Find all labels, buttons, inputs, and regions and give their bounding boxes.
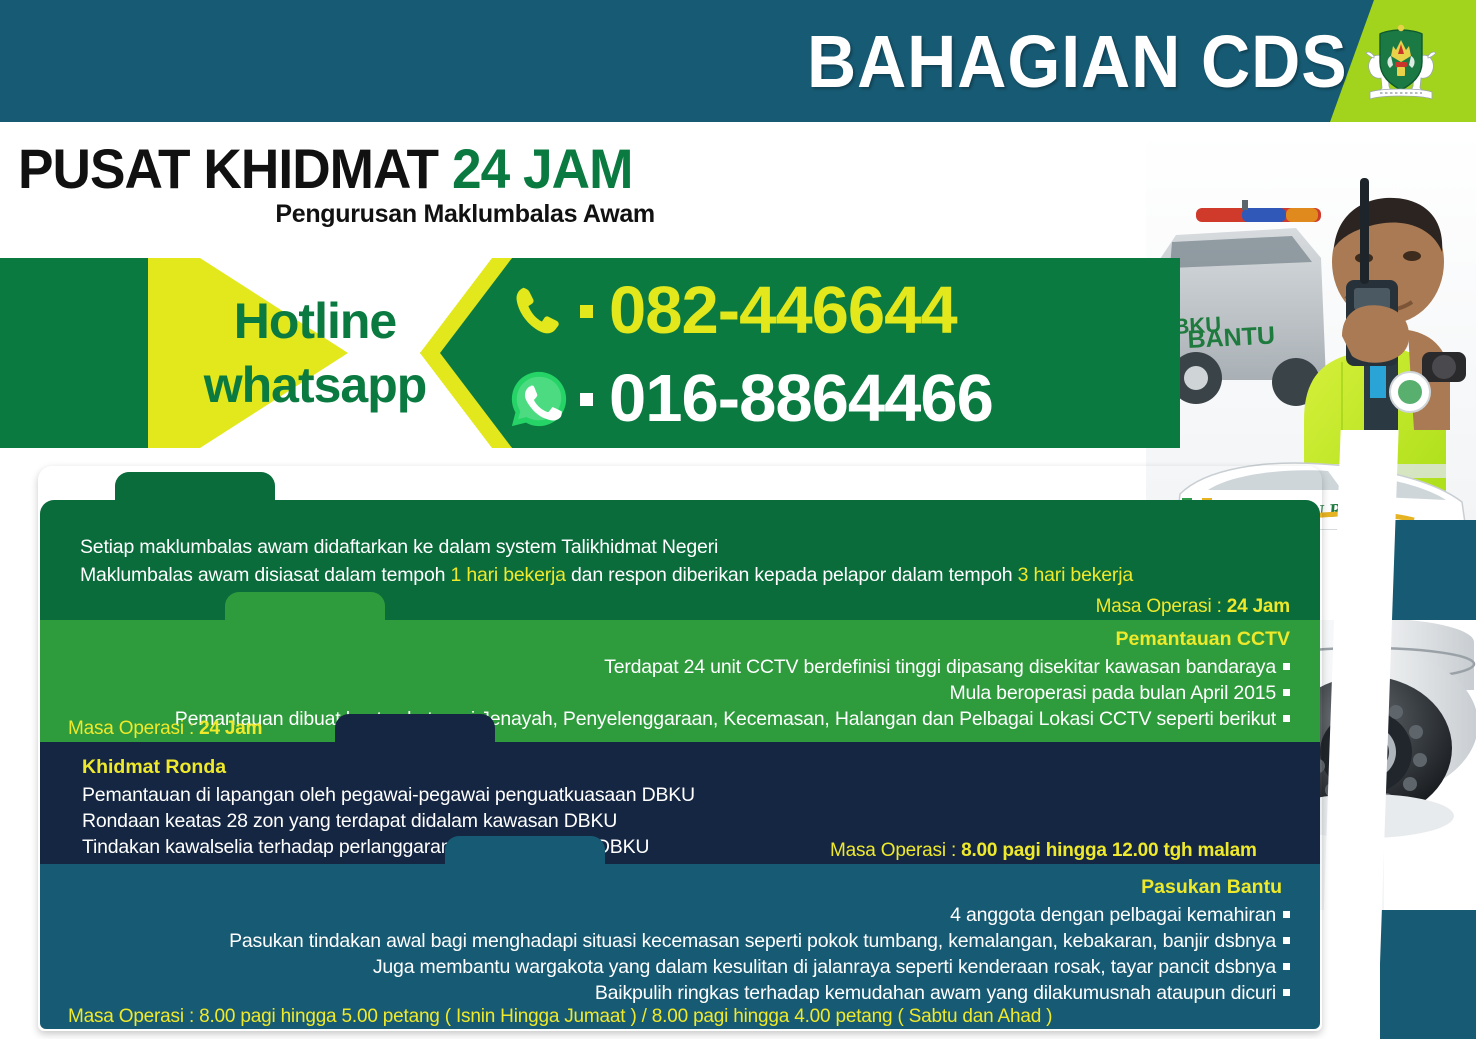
block-pasukan-bantu-tab (445, 836, 605, 866)
phone-separator-dot (580, 305, 593, 318)
cctv-masa-operasi: Masa Operasi : 24 Jam (68, 718, 262, 740)
cctv-bullet-2-text: Mula beroperasi pada bulan April 2015 (950, 682, 1277, 704)
talikhidmat-line-1: Setiap maklumbalas awam didaftarkan ke d… (80, 534, 718, 560)
poster-root: BAHAGIAN CDS (0, 0, 1476, 1039)
bantu-bullet-1-text: 4 anggota dengan pelbagai kemahiran (950, 904, 1276, 926)
block-khidmat-ronda-tab (335, 714, 495, 744)
hotline-whatsapp-number: 016-8864466 (609, 364, 993, 434)
sarawak-dbku-coat-of-arms-icon (1362, 22, 1440, 104)
bantu-bullet-4: Baikpulih ringkas terhadap kemudahan awa… (595, 980, 1290, 1006)
bantu-bullet-3-text: Juga membantu wargakota yang dalam kesul… (373, 956, 1276, 978)
cctv-title: Pemantauan CCTV (1116, 628, 1290, 651)
poster-title-green: 24 JAM (452, 137, 633, 200)
cctv-bullet-1-text: Terdapat 24 unit CCTV berdefinisi tinggi… (604, 656, 1276, 678)
cctv-masa-label: Masa Operasi : (68, 718, 199, 739)
page-title: BAHAGIAN CDS (807, 14, 1348, 110)
block-khidmat-ronda: Khidmat Ronda Pemantauan di lapangan ole… (40, 742, 1320, 864)
talikhidmat-line2-mid: dan respon diberikan kepada pelapor dala… (566, 564, 1018, 586)
hotline-label-line1: Hotline (234, 289, 396, 353)
ronda-title: Khidmat Ronda (82, 756, 226, 779)
cctv-bullet-1: Terdapat 24 unit CCTV berdefinisi tinggi… (604, 654, 1290, 680)
hotline-whatsapp-row[interactable]: 016-8864466 (500, 355, 1180, 443)
hotline-label-line2: whatsapp (204, 353, 427, 417)
bantu-bullet-2-text: Pasukan tindakan awal bagi menghadapi si… (229, 930, 1276, 952)
bullet-square-icon (1283, 715, 1290, 722)
talikhidmat-masa-operasi: Masa Operasi : 24 Jam (1096, 596, 1290, 618)
bantu-bullet-4-text: Baikpulih ringkas terhadap kemudahan awa… (595, 982, 1276, 1004)
phone-icon (500, 272, 578, 350)
talikhidmat-masa-value: 24 Jam (1227, 596, 1290, 617)
poster-title-main: PUSAT KHIDMAT 24 JAM (18, 140, 633, 198)
whatsapp-icon (500, 360, 578, 438)
hotline-phone-row[interactable]: 082-446644 (500, 267, 1180, 355)
talikhidmat-line2-highlight-2: 3 hari bekerja (1018, 564, 1133, 586)
bullet-square-icon (1283, 689, 1290, 696)
svg-text:BANTU: BANTU (1187, 321, 1276, 354)
bantu-bullet-1: 4 anggota dengan pelbagai kemahiran (950, 902, 1290, 928)
talikhidmat-line2-highlight-1: 1 hari bekerja (450, 564, 565, 586)
poster-title-black: PUSAT KHIDMAT (18, 137, 438, 200)
ronda-masa-value: 8.00 pagi hingga 12.00 tgh malam (961, 840, 1257, 861)
page-header: BAHAGIAN CDS (0, 0, 1476, 122)
content-panel: Setiap maklumbalas awam didaftarkan ke d… (40, 468, 1320, 1029)
bantu-bullet-3: Juga membantu wargakota yang dalam kesul… (373, 954, 1290, 980)
cctv-masa-value: 24 Jam (199, 718, 262, 739)
bullet-square-icon (1283, 963, 1290, 970)
ronda-masa-operasi: Masa Operasi : 8.00 pagi hingga 12.00 tg… (830, 840, 1257, 862)
block-pasukan-bantu: Pasukan Bantu 4 anggota dengan pelbagai … (40, 864, 1320, 1029)
talikhidmat-line-2: Maklumbalas awam disiasat dalam tempoh 1… (80, 562, 1133, 588)
hotline-phone-number: 082-446644 (609, 276, 957, 346)
poster-subtitle: Pengurusan Maklumbalas Awam (18, 200, 665, 229)
bullet-square-icon (1283, 937, 1290, 944)
hotline-band: Hotline whatsapp 082-446644 (0, 258, 1180, 448)
cctv-bullet-2: Mula beroperasi pada bulan April 2015 (950, 680, 1291, 706)
ronda-masa-label: Masa Operasi : (830, 840, 961, 861)
poster-title-block: PUSAT KHIDMAT 24 JAM Pengurusan Maklumba… (18, 140, 665, 229)
bullet-square-icon (1283, 663, 1290, 670)
block-pemantauan-cctv: Pemantauan CCTV Terdapat 24 unit CCTV be… (40, 620, 1320, 742)
hotline-numbers: 082-446644 016-8864466 (500, 264, 1180, 446)
bantu-masa-label: Masa Operasi : (68, 1006, 199, 1027)
bantu-masa-operasi: Masa Operasi : 8.00 pagi hingga 5.00 pet… (68, 1006, 1052, 1028)
whatsapp-separator-dot (580, 393, 593, 406)
bantu-title: Pasukan Bantu (1141, 876, 1282, 899)
ronda-line-2: Rondaan keatas 28 zon yang terdapat dida… (82, 808, 617, 834)
ronda-line-1: Pemantauan di lapangan oleh pegawai-pega… (82, 782, 695, 808)
bullet-square-icon (1283, 911, 1290, 918)
bantu-bullet-2: Pasukan tindakan awal bagi menghadapi si… (229, 928, 1290, 954)
bullet-square-icon (1283, 989, 1290, 996)
talikhidmat-masa-label: Masa Operasi : (1096, 596, 1227, 617)
block-pemantauan-cctv-tab (225, 592, 385, 622)
bantu-masa-value: 8.00 pagi hingga 5.00 petang ( Isnin Hin… (199, 1006, 1052, 1027)
talikhidmat-line2-pre: Maklumbalas awam disiasat dalam tempoh (80, 564, 450, 586)
block-talikhidmat-tab (115, 472, 275, 502)
